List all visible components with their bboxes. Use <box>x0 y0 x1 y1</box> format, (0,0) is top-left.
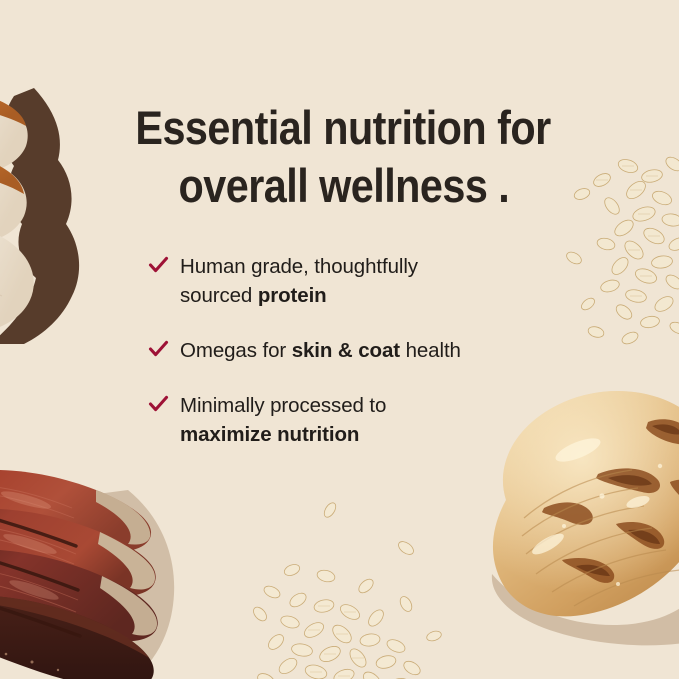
benefit-text-plain: sourced <box>180 284 258 307</box>
check-icon <box>148 339 169 360</box>
scattered-oats-image <box>246 496 442 679</box>
benefit-text-line-1: Minimally processed to <box>180 391 568 420</box>
benefit-text-line-1: Omegas for skin & coat health <box>180 336 568 365</box>
roast-turkey-image <box>0 82 113 344</box>
rolled-oats-image <box>566 146 679 346</box>
check-icon <box>148 394 169 415</box>
list-item: Human grade, thoughtfully sourced protei… <box>148 252 568 310</box>
sliced-steak-image <box>0 438 206 679</box>
benefit-text-line-1: Human grade, thoughtfully <box>180 252 568 281</box>
list-item: Minimally processed to maximize nutritio… <box>148 391 568 449</box>
headline-line-1: Essential nutrition for <box>41 99 639 156</box>
benefit-text-plain: Omegas for <box>180 339 292 362</box>
benefit-text-bold: skin & coat <box>292 339 400 362</box>
headline-line-2: overall wellness . <box>41 157 639 214</box>
benefit-text-bold: protein <box>258 284 327 307</box>
benefit-text-line-2: maximize nutrition <box>180 420 568 449</box>
check-icon <box>148 255 169 276</box>
benefits-list: Human grade, thoughtfully sourced protei… <box>148 252 568 450</box>
page-title: Essential nutrition for overall wellness… <box>41 99 639 214</box>
benefit-text-tail: health <box>400 339 461 362</box>
product-benefits-banner: Essential nutrition for overall wellness… <box>0 0 679 679</box>
list-item: Omegas for skin & coat health <box>148 336 568 365</box>
benefit-text-line-2: sourced protein <box>180 281 568 310</box>
